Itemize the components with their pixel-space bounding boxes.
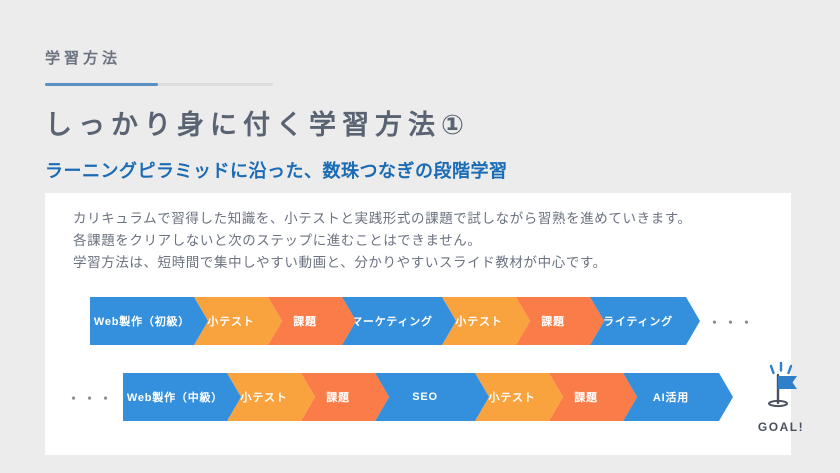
flow-step-label: 課題: [541, 313, 565, 329]
flow-trailing-ellipsis: ・・・: [708, 312, 756, 331]
flow-step-label: SEO: [412, 391, 438, 403]
flow-step[interactable]: AI活用: [623, 373, 733, 421]
flow-step-label: Web製作（初級）: [94, 313, 190, 329]
flow-step[interactable]: Web製作（初級）: [90, 297, 208, 345]
page-subtitle: ラーニングピラミッドに沿った、数珠つなぎの段階学習: [45, 157, 508, 183]
goal-label: GOAL!: [758, 420, 804, 434]
header-divider: [45, 83, 273, 86]
flow-step[interactable]: SEO: [375, 373, 489, 421]
page-title: しっかり身に付く学習方法①: [45, 103, 470, 142]
flow-step-label: 課題: [574, 389, 598, 405]
flow-step-label: ライティング: [603, 313, 673, 329]
flow-step[interactable]: マーケティング: [342, 297, 456, 345]
goal-marker: GOAL!: [748, 361, 814, 434]
flow-step-label: 小テスト: [240, 389, 287, 405]
flow-step[interactable]: Web製作（中級）: [123, 373, 241, 421]
flow-step[interactable]: ライティング: [590, 297, 700, 345]
eyebrow-label: 学習方法: [45, 47, 121, 68]
flow-steps: Web製作（初級）小テスト課題マーケティング小テスト課題ライティング: [90, 297, 686, 345]
flow-step-label: 小テスト: [207, 313, 254, 329]
flow-row-beginner: Web製作（初級）小テスト課題マーケティング小テスト課題ライティング・・・: [90, 297, 756, 345]
goal-flag-icon: [757, 361, 805, 418]
card-paragraph: カリキュラムで習得した知識を、小テストと実践形式の課題で試しながら習熟を進めてい…: [73, 208, 773, 274]
paragraph-line: カリキュラムで習得した知識を、小テストと実践形式の課題で試しながら習熟を進めてい…: [73, 208, 773, 230]
flow-leading-ellipsis: ・・・: [67, 388, 115, 407]
flow-step-label: 小テスト: [455, 313, 502, 329]
flow-row-intermediate: ・・・Web製作（中級）小テスト課題SEO小テスト課題AI活用: [67, 373, 719, 421]
flow-step-label: Web製作（中級）: [127, 389, 223, 405]
flow-steps: Web製作（中級）小テスト課題SEO小テスト課題AI活用: [123, 373, 719, 421]
flow-step-label: 課題: [326, 389, 350, 405]
flow-step-label: マーケティング: [351, 313, 433, 329]
paragraph-line: 各課題をクリアしないと次のステップに進むことはできません。: [73, 230, 773, 252]
header-divider-fill: [45, 83, 158, 86]
flow-step-label: 課題: [293, 313, 317, 329]
paragraph-line: 学習方法は、短時間で集中しやすい動画と、分かりやすいスライド教材が中心です。: [73, 252, 773, 274]
flow-step-label: AI活用: [653, 389, 689, 405]
flow-step-label: 小テスト: [488, 389, 535, 405]
content-card: カリキュラムで習得した知識を、小テストと実践形式の課題で試しながら習熟を進めてい…: [45, 193, 791, 455]
